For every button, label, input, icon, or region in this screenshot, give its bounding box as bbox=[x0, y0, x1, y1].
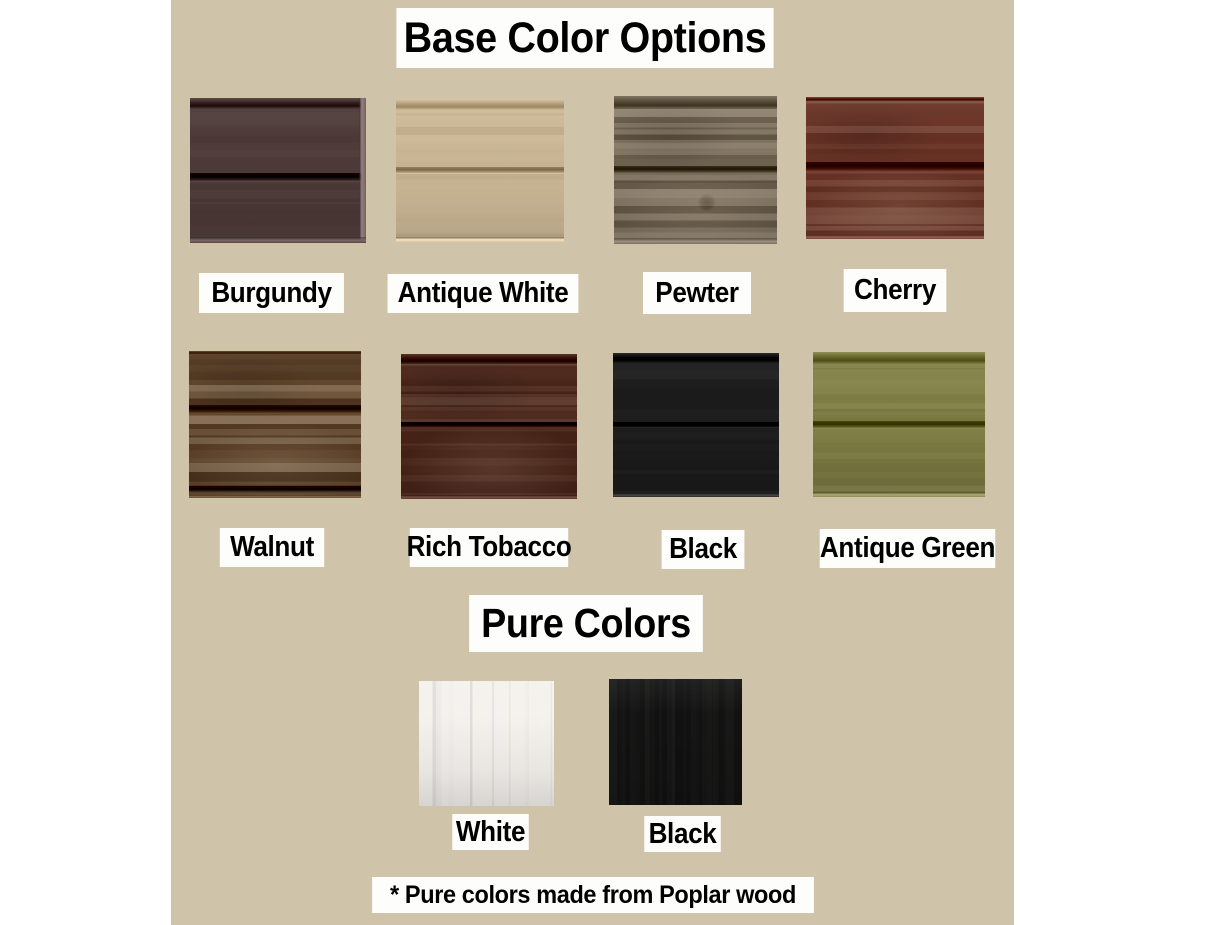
swatch-burgundy bbox=[190, 98, 366, 243]
swatch-rich-tobacco-surface bbox=[401, 354, 577, 499]
footnote: * Pure colors made from Poplar wood bbox=[372, 877, 814, 913]
label-pewter: Pewter bbox=[643, 272, 751, 314]
swatch-antique-white-surface bbox=[396, 99, 564, 242]
swatch-antique-green bbox=[813, 352, 985, 497]
swatch-pure-white bbox=[419, 681, 554, 806]
swatch-pewter-surface bbox=[614, 96, 777, 244]
swatch-pewter bbox=[614, 96, 777, 244]
swatch-black-base-surface bbox=[613, 353, 779, 497]
swatch-pure-black-surface bbox=[609, 679, 742, 805]
swatch-walnut-surface bbox=[189, 351, 361, 498]
swatch-pure-black bbox=[609, 679, 742, 805]
pure-colors-title: Pure Colors bbox=[469, 595, 703, 652]
label-black-base: Black bbox=[662, 530, 745, 569]
swatch-burgundy-surface bbox=[190, 98, 366, 243]
swatch-pure-white-surface bbox=[419, 681, 554, 806]
label-rich-tobacco: Rich Tobacco bbox=[410, 528, 568, 567]
swatch-walnut bbox=[189, 351, 361, 498]
swatch-antique-green-surface bbox=[813, 352, 985, 497]
swatch-antique-white bbox=[396, 99, 564, 242]
swatch-black-base bbox=[613, 353, 779, 497]
page-title: Base Color Options bbox=[396, 8, 773, 68]
color-options-chart: Base Color Options Burgundy Antique Whit… bbox=[0, 0, 1214, 925]
label-walnut: Walnut bbox=[220, 528, 324, 567]
label-antique-green: Antique Green bbox=[820, 529, 996, 568]
label-burgundy: Burgundy bbox=[199, 273, 344, 313]
label-cherry: Cherry bbox=[844, 269, 947, 312]
label-pure-black: Black bbox=[644, 816, 721, 852]
swatch-cherry-surface bbox=[806, 97, 984, 239]
label-pure-white: White bbox=[452, 814, 529, 850]
swatch-cherry bbox=[806, 97, 984, 239]
swatch-rich-tobacco bbox=[401, 354, 577, 499]
label-antique-white: Antique White bbox=[388, 274, 579, 313]
